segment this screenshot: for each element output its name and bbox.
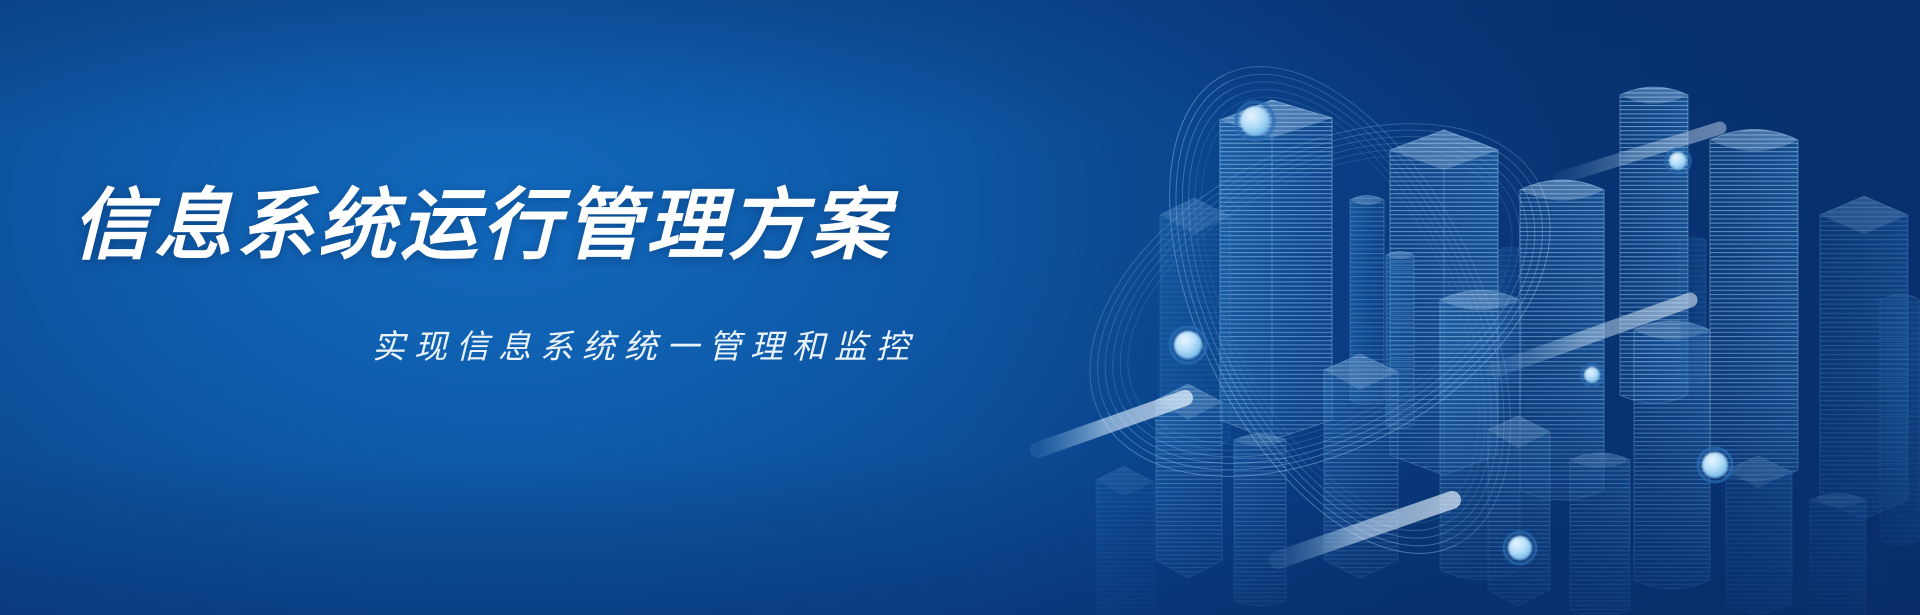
building-slab-main — [1220, 100, 1332, 440]
glow-dot-mid-left — [1170, 327, 1206, 363]
building-cyl-back-right — [1620, 87, 1688, 403]
building-front-f — [1810, 494, 1866, 615]
page-subtitle: 实现信息系统统一管理和监控 — [372, 330, 918, 363]
light-streak-far-right — [1560, 128, 1720, 178]
building-slab-back-left — [1160, 198, 1230, 458]
building-slab-second — [1390, 130, 1498, 475]
building-front-e — [1726, 456, 1792, 615]
wireframe-city-graphic — [920, 0, 1920, 615]
glow-dot-tiny-right — [1581, 364, 1603, 386]
building-slab-far-right — [1820, 196, 1908, 519]
orbit-rings — [1031, 13, 1610, 607]
building-slab-mid-c — [1324, 354, 1398, 578]
glow-dot-small-upper-right — [1666, 149, 1691, 174]
glow-dot-top-left — [1236, 102, 1274, 140]
building-stick-b — [1680, 237, 1706, 383]
glow-dots — [1170, 102, 1732, 564]
building-front-c — [1488, 416, 1550, 606]
banner-root: 信息系统运行管理方案 实现信息系统统一管理和监控 — [0, 0, 1920, 615]
building-front-a — [1156, 384, 1222, 578]
building-front-b — [1234, 434, 1286, 606]
glow-dot-lower-right — [1698, 448, 1732, 482]
building-front-g — [1096, 466, 1154, 615]
building-stick-a — [1498, 247, 1522, 383]
page-title: 信息系统运行管理方案 — [72, 186, 892, 264]
city-buildings — [1096, 87, 1920, 615]
light-streak-left — [1038, 398, 1185, 450]
building-cyl-thin-b — [1386, 252, 1414, 429]
glow-dot-bottom-left — [1504, 532, 1536, 564]
building-cyl-mid-b — [1634, 321, 1710, 589]
building-cyl-mid-a — [1440, 291, 1520, 580]
orbit-rings-front — [1099, 75, 1609, 607]
light-streaks — [1038, 128, 1720, 560]
building-cyl-right-tall — [1710, 130, 1798, 481]
light-streak-right — [1495, 300, 1690, 370]
light-streak-center — [1278, 500, 1452, 560]
building-cyl-center — [1520, 180, 1604, 500]
building-front-d — [1570, 453, 1630, 615]
building-cyl-thin-a — [1350, 196, 1384, 405]
building-front-h — [1880, 295, 1920, 546]
headline-block: 信息系统运行管理方案 实现信息系统统一管理和监控 — [0, 0, 940, 615]
